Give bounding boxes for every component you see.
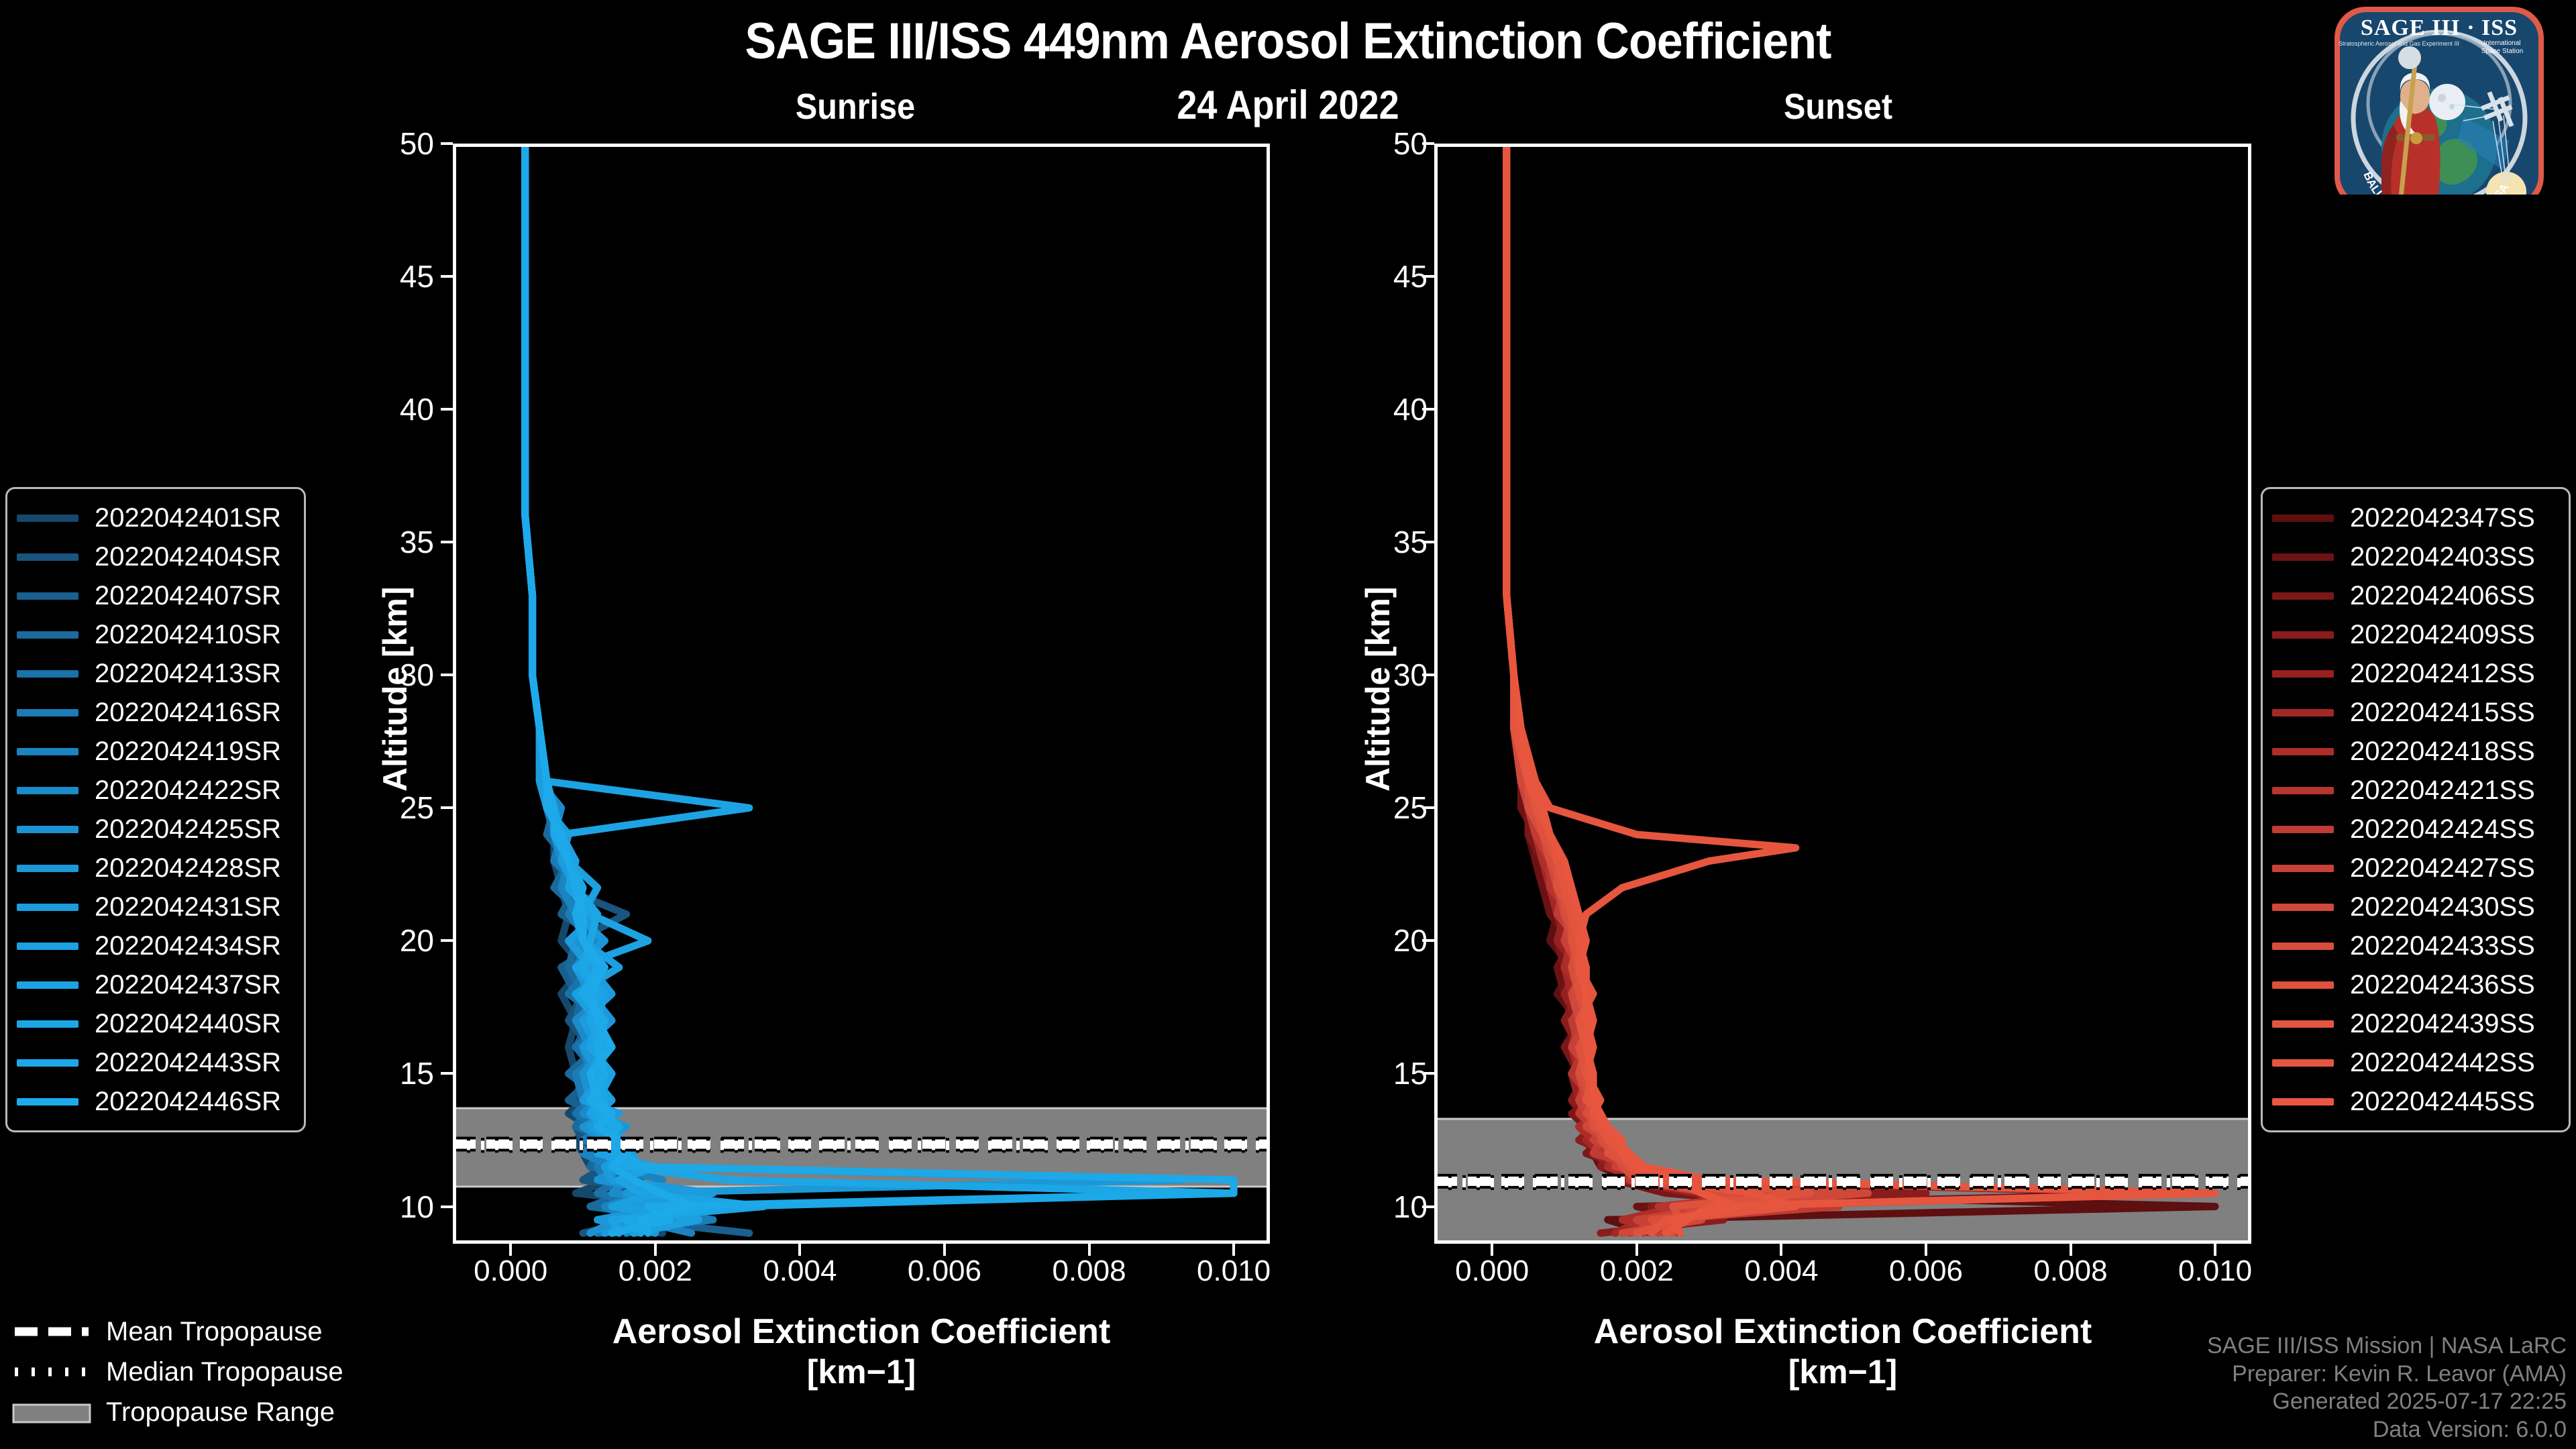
plot-sunset bbox=[1434, 144, 2251, 1244]
x-tick-label: 0.010 bbox=[1153, 1254, 1314, 1288]
legend-item-label: 2022042415SS bbox=[2350, 698, 2535, 728]
panel-title-sunset: Sunset bbox=[1669, 86, 2007, 127]
svg-text:Space Station: Space Station bbox=[2481, 48, 2523, 55]
legend-color-swatch bbox=[2272, 865, 2334, 872]
legend-item[interactable]: 2022042446SR bbox=[17, 1082, 292, 1121]
legend-color-swatch bbox=[17, 592, 78, 600]
x-tick-mark bbox=[1232, 1244, 1235, 1256]
y-tick-mark bbox=[1422, 408, 1434, 411]
legend-color-swatch bbox=[17, 709, 78, 716]
legend-color-swatch bbox=[2272, 1098, 2334, 1106]
legend-color-swatch bbox=[2272, 904, 2334, 911]
y-tick-label: 25 bbox=[1300, 790, 1428, 826]
x-axis-label-sunrise: Aerosol Extinction Coefficient [km−1] bbox=[453, 1311, 1270, 1392]
legend-color-swatch bbox=[17, 865, 78, 872]
legend-item-label: 2022042443SR bbox=[95, 1048, 281, 1078]
y-tick-mark bbox=[441, 1205, 453, 1208]
y-tick-label: 10 bbox=[1300, 1189, 1428, 1225]
footer-credits: SAGE III/ISS Mission | NASA LaRCPreparer… bbox=[2207, 1332, 2567, 1444]
legend-item-label: 2022042445SS bbox=[2350, 1087, 2535, 1117]
legend-color-swatch bbox=[2272, 553, 2334, 561]
legend-color-swatch bbox=[2272, 787, 2334, 794]
legend-color-swatch bbox=[17, 787, 78, 794]
legend-item-label: 2022042439SS bbox=[2350, 1009, 2535, 1039]
legend-item[interactable]: 2022042428SR bbox=[17, 849, 292, 888]
y-tick-label: 45 bbox=[1300, 258, 1428, 294]
tropopause-legend-label: Median Tropopause bbox=[106, 1357, 343, 1387]
legend-item-label: 2022042418SS bbox=[2350, 737, 2535, 767]
x-tick-label: 0.002 bbox=[1556, 1254, 1717, 1288]
y-tick-label: 40 bbox=[1300, 391, 1428, 427]
svg-text:Stratospheric Aerosol and Gas: Stratospheric Aerosol and Gas Experiment… bbox=[2339, 40, 2459, 47]
legend-item[interactable]: 2022042437SR bbox=[17, 965, 292, 1004]
legend-item[interactable]: 2022042440SR bbox=[17, 1004, 292, 1043]
legend-color-swatch bbox=[2272, 826, 2334, 833]
legend-item[interactable]: 2022042425SR bbox=[17, 810, 292, 849]
legend-item-label: 2022042436SS bbox=[2350, 970, 2535, 1000]
y-tick-mark bbox=[441, 275, 453, 278]
y-tick-mark bbox=[1422, 806, 1434, 809]
legend-item[interactable]: 2022042422SR bbox=[17, 771, 292, 810]
legend-item[interactable]: 2022042445SS bbox=[2272, 1082, 2557, 1121]
legend-item[interactable]: 2022042413SR bbox=[17, 654, 292, 693]
x-axis-unit: [km−1] bbox=[1434, 1352, 2251, 1392]
legend-color-swatch bbox=[2272, 748, 2334, 755]
tropopause-legend-item: Tropopause Range bbox=[12, 1392, 374, 1432]
legend-item[interactable]: 2022042433SS bbox=[2272, 926, 2557, 965]
x-tick-mark bbox=[654, 1244, 657, 1256]
legend-item-label: 2022042403SS bbox=[2350, 542, 2535, 572]
legend-sunset[interactable]: 2022042347SS2022042403SS2022042406SS2022… bbox=[2261, 487, 2571, 1132]
x-tick-mark bbox=[798, 1244, 801, 1256]
legend-color-swatch bbox=[2272, 709, 2334, 716]
plot-sunrise bbox=[453, 144, 1270, 1244]
legend-item-label: 2022042419SR bbox=[95, 737, 281, 767]
legend-color-swatch bbox=[2272, 1020, 2334, 1028]
x-tick-label: 0.010 bbox=[2135, 1254, 2296, 1288]
tropopause-legend-item: Mean Tropopause bbox=[12, 1311, 374, 1352]
x-tick-mark bbox=[509, 1244, 512, 1256]
legend-color-swatch bbox=[17, 904, 78, 911]
legend-color-swatch bbox=[17, 1098, 78, 1106]
legend-item[interactable]: 2022042421SS bbox=[2272, 771, 2557, 810]
x-tick-mark bbox=[2214, 1244, 2216, 1256]
legend-item-label: 2022042410SR bbox=[95, 620, 281, 650]
y-tick-mark bbox=[1422, 541, 1434, 543]
date-title: 24 April 2022 bbox=[1059, 82, 1517, 128]
legend-color-swatch bbox=[17, 1020, 78, 1028]
legend-color-swatch bbox=[2272, 1059, 2334, 1067]
sage-iii-iss-logo: BALL · ESA SAGE III · ISS Stratospheric … bbox=[2308, 3, 2571, 195]
legend-item[interactable]: 2022042442SS bbox=[2272, 1043, 2557, 1082]
tropopause-legend-item: Median Tropopause bbox=[12, 1352, 374, 1392]
legend-item[interactable]: 2022042403SS bbox=[2272, 537, 2557, 576]
svg-text:SAGE III · ISS: SAGE III · ISS bbox=[2361, 15, 2518, 40]
legend-item-label: 2022042425SR bbox=[95, 814, 281, 845]
legend-item[interactable]: 2022042416SR bbox=[17, 693, 292, 732]
legend-item-label: 2022042407SR bbox=[95, 581, 281, 611]
x-axis-label-text: Aerosol Extinction Coefficient bbox=[612, 1312, 1111, 1351]
y-tick-mark bbox=[1422, 674, 1434, 676]
legend-color-swatch bbox=[17, 553, 78, 561]
panel-title-sunrise: Sunrise bbox=[686, 86, 1024, 127]
legend-color-swatch bbox=[2272, 981, 2334, 989]
x-tick-label: 0.004 bbox=[719, 1254, 880, 1288]
legend-item[interactable]: 2022042427SS bbox=[2272, 849, 2557, 888]
legend-item[interactable]: 2022042415SS bbox=[2272, 693, 2557, 732]
x-tick-mark bbox=[1491, 1244, 1493, 1256]
axes-frame-sunset bbox=[1434, 144, 2251, 1244]
x-axis-unit: [km−1] bbox=[453, 1352, 1270, 1392]
y-tick-label: 50 bbox=[327, 125, 434, 162]
legend-color-swatch bbox=[17, 748, 78, 755]
legend-item[interactable]: 2022042443SR bbox=[17, 1043, 292, 1082]
y-tick-label: 30 bbox=[1300, 657, 1428, 693]
legend-item-label: 2022042428SR bbox=[95, 853, 281, 883]
legend-color-swatch bbox=[2272, 592, 2334, 600]
legend-item-label: 2022042347SS bbox=[2350, 503, 2535, 533]
legend-color-swatch bbox=[17, 515, 78, 522]
x-axis-label-sunset: Aerosol Extinction Coefficient [km−1] bbox=[1434, 1311, 2251, 1392]
y-tick-mark bbox=[441, 408, 453, 411]
x-axis-label-text: Aerosol Extinction Coefficient bbox=[1594, 1312, 2092, 1351]
y-tick-mark bbox=[1422, 1205, 1434, 1208]
legend-item-label: 2022042430SS bbox=[2350, 892, 2535, 922]
legend-color-swatch bbox=[17, 670, 78, 678]
legend-item[interactable]: 2022042436SS bbox=[2272, 965, 2557, 1004]
y-tick-label: 20 bbox=[1300, 922, 1428, 959]
x-tick-label: 0.000 bbox=[1411, 1254, 1572, 1288]
x-tick-label: 0.006 bbox=[864, 1254, 1025, 1288]
axes-frame-sunrise bbox=[453, 144, 1270, 1244]
legend-color-swatch bbox=[2272, 670, 2334, 678]
y-tick-mark bbox=[1422, 939, 1434, 942]
y-tick-label: 50 bbox=[1300, 125, 1428, 162]
y-tick-mark bbox=[441, 674, 453, 676]
dotted-line-swatch bbox=[12, 1363, 91, 1381]
legend-color-swatch bbox=[17, 631, 78, 639]
x-tick-label: 0.008 bbox=[1009, 1254, 1170, 1288]
svg-text:International: International bbox=[2483, 40, 2520, 47]
y-tick-mark bbox=[441, 1072, 453, 1075]
x-tick-mark bbox=[943, 1244, 946, 1256]
gray-band-swatch bbox=[12, 1403, 91, 1421]
legend-item[interactable]: 2022042439SS bbox=[2272, 1004, 2557, 1043]
tropopause-legend-label: Tropopause Range bbox=[106, 1397, 335, 1428]
legend-item-label: 2022042433SS bbox=[2350, 931, 2535, 961]
legend-item[interactable]: 2022042401SR bbox=[17, 498, 292, 537]
footer-line: Data Version: 6.0.0 bbox=[2207, 1416, 2567, 1444]
tropopause-legend-label: Mean Tropopause bbox=[106, 1317, 322, 1347]
x-tick-mark bbox=[1780, 1244, 1782, 1256]
y-tick-mark bbox=[1422, 275, 1434, 278]
x-tick-mark bbox=[1088, 1244, 1091, 1256]
y-tick-label: 35 bbox=[1300, 524, 1428, 560]
legend-item-label: 2022042442SS bbox=[2350, 1048, 2535, 1078]
legend-item[interactable]: 2022042434SR bbox=[17, 926, 292, 965]
y-tick-label: 10 bbox=[327, 1189, 434, 1225]
legend-color-swatch bbox=[2272, 943, 2334, 950]
legend-color-swatch bbox=[2272, 515, 2334, 522]
legend-item[interactable]: 2022042347SS bbox=[2272, 498, 2557, 537]
y-tick-mark bbox=[441, 142, 453, 145]
y-tick-mark bbox=[1422, 1072, 1434, 1075]
x-tick-label: 0.008 bbox=[1990, 1254, 2151, 1288]
legend-item[interactable]: 2022042404SR bbox=[17, 537, 292, 576]
x-tick-mark bbox=[1925, 1244, 1927, 1256]
y-tick-label: 15 bbox=[327, 1055, 434, 1091]
legend-item[interactable]: 2022042430SS bbox=[2272, 888, 2557, 926]
x-tick-mark bbox=[2070, 1244, 2072, 1256]
y-tick-mark bbox=[1422, 142, 1434, 145]
y-tick-label: 20 bbox=[327, 922, 434, 959]
legend-item[interactable]: 2022042419SR bbox=[17, 732, 292, 771]
legend-sunrise[interactable]: 2022042401SR2022042404SR2022042407SR2022… bbox=[5, 487, 306, 1132]
legend-item-label: 2022042422SR bbox=[95, 775, 281, 806]
legend-item-label: 2022042446SR bbox=[95, 1087, 281, 1117]
y-tick-label: 45 bbox=[327, 258, 434, 294]
x-tick-mark bbox=[1635, 1244, 1638, 1256]
y-tick-mark bbox=[441, 939, 453, 942]
x-tick-label: 0.000 bbox=[430, 1254, 591, 1288]
legend-item-label: 2022042431SR bbox=[95, 892, 281, 922]
legend-item[interactable]: 2022042412SS bbox=[2272, 654, 2557, 693]
y-tick-mark bbox=[441, 806, 453, 809]
legend-item[interactable]: 2022042407SR bbox=[17, 576, 292, 615]
legend-item-label: 2022042434SR bbox=[95, 931, 281, 961]
legend-item[interactable]: 2022042418SS bbox=[2272, 732, 2557, 771]
legend-item-label: 2022042416SR bbox=[95, 698, 281, 728]
legend-item-label: 2022042404SR bbox=[95, 542, 281, 572]
y-tick-mark bbox=[441, 541, 453, 543]
y-tick-label: 30 bbox=[327, 657, 434, 693]
legend-color-swatch bbox=[17, 1059, 78, 1067]
y-tick-label: 40 bbox=[327, 391, 434, 427]
legend-item-label: 2022042440SR bbox=[95, 1009, 281, 1039]
legend-color-swatch bbox=[2272, 631, 2334, 639]
dashed-line-swatch bbox=[12, 1323, 91, 1340]
legend-item[interactable]: 2022042431SR bbox=[17, 888, 292, 926]
legend-color-swatch bbox=[17, 943, 78, 950]
legend-item[interactable]: 2022042410SR bbox=[17, 615, 292, 654]
legend-item-label: 2022042427SS bbox=[2350, 853, 2535, 883]
legend-item[interactable]: 2022042406SS bbox=[2272, 576, 2557, 615]
y-tick-label: 35 bbox=[327, 524, 434, 560]
legend-color-swatch bbox=[17, 826, 78, 833]
page-title: SAGE III/ISS 449nm Aerosol Extinction Co… bbox=[103, 12, 2473, 70]
legend-item-label: 2022042412SS bbox=[2350, 659, 2535, 689]
y-tick-label: 25 bbox=[327, 790, 434, 826]
legend-item-label: 2022042437SR bbox=[95, 970, 281, 1000]
footer-line: SAGE III/ISS Mission | NASA LaRC bbox=[2207, 1332, 2567, 1360]
legend-item[interactable]: 2022042424SS bbox=[2272, 810, 2557, 849]
legend-tropopause: Mean TropopauseMedian TropopauseTropopau… bbox=[12, 1311, 374, 1432]
legend-color-swatch bbox=[17, 981, 78, 989]
legend-item-label: 2022042401SR bbox=[95, 503, 281, 533]
legend-item-label: 2022042413SR bbox=[95, 659, 281, 689]
legend-item-label: 2022042424SS bbox=[2350, 814, 2535, 845]
legend-item[interactable]: 2022042409SS bbox=[2272, 615, 2557, 654]
legend-item-label: 2022042421SS bbox=[2350, 775, 2535, 806]
x-tick-label: 0.004 bbox=[1701, 1254, 1862, 1288]
x-tick-label: 0.002 bbox=[575, 1254, 736, 1288]
footer-line: Generated 2025-07-17 22:25 bbox=[2207, 1388, 2567, 1415]
legend-item-label: 2022042409SS bbox=[2350, 620, 2535, 650]
footer-line: Preparer: Kevin R. Leavor (AMA) bbox=[2207, 1360, 2567, 1388]
legend-item-label: 2022042406SS bbox=[2350, 581, 2535, 611]
y-tick-label: 15 bbox=[1300, 1055, 1428, 1091]
x-tick-label: 0.006 bbox=[1845, 1254, 2006, 1288]
